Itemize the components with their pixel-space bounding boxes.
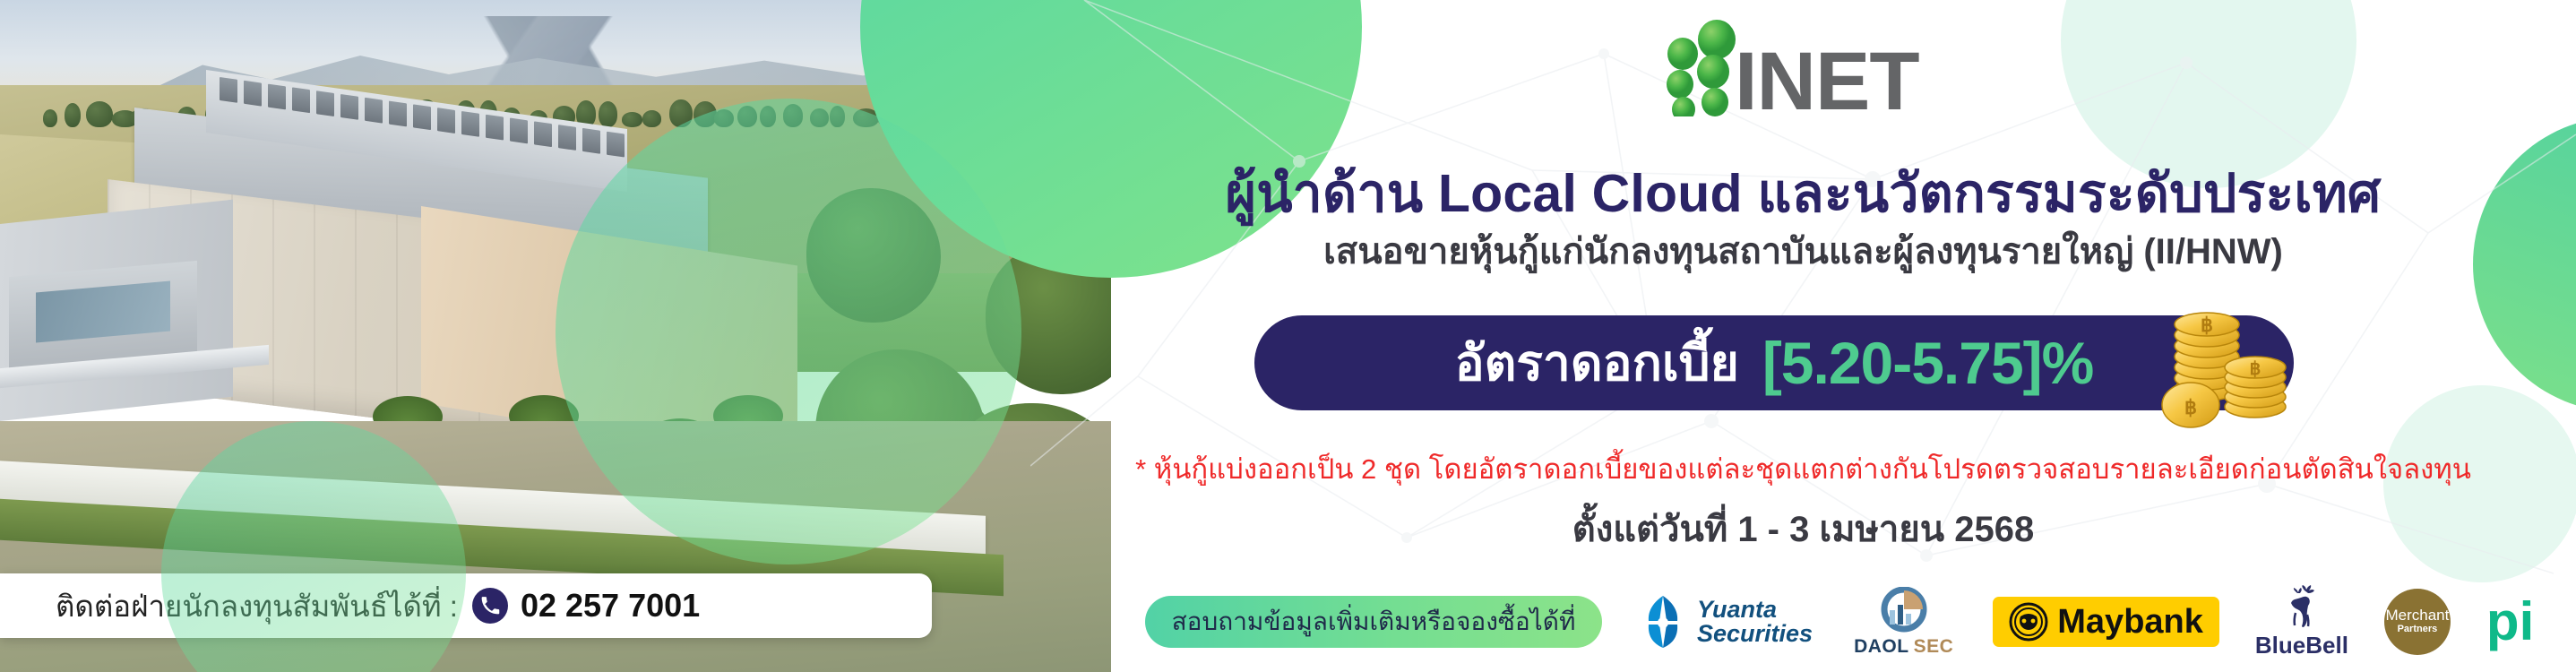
daol-mark-icon [1877, 587, 1931, 633]
partner-strip: สอบถามข้อมูลเพิ่มเติมหรือจองซื้อได้ที่ Y… [1030, 581, 2576, 663]
interest-rate-section: อัตราดอกเบี้ย [5.20-5.75]% [1030, 315, 2576, 423]
partner-logo-daol[interactable]: DAOLSEC [1854, 587, 1953, 658]
svg-text:฿: ฿ [2184, 396, 2197, 418]
content-column: INET ผู้นำด้าน Local Cloud และนวัตกรรมระ… [1030, 0, 2576, 672]
partner-logo-maybank[interactable]: Maybank [1993, 597, 2219, 647]
offer-period: ตั้งแต่วันที่ 1 - 3 เมษายน 2568 [1030, 500, 2576, 557]
yuanta-mark-icon [1638, 594, 1688, 650]
partner-logo-merchant[interactable]: Merchant Partners [2384, 589, 2451, 655]
partner-logo-pi[interactable]: pi [2486, 600, 2534, 643]
svg-text:INET: INET [1735, 36, 1919, 116]
contact-label: ติดต่อฝ่ายนักลงทุนสัมพันธ์ได้ที่ : [56, 582, 458, 630]
interest-rate-label: อัตราดอกเบี้ย [1455, 324, 1739, 402]
merchant-badge-icon: Merchant Partners [2384, 589, 2451, 655]
contact-phone: 02 257 7001 [521, 587, 700, 625]
merchant-line1: Merchant [2385, 607, 2449, 623]
merchant-line2: Partners [2398, 623, 2438, 636]
daol-line2: SEC [1914, 636, 1954, 657]
inet-logo: INET [1649, 16, 1962, 116]
svg-text:฿: ฿ [2250, 359, 2262, 379]
maybank-tiger-icon [2009, 602, 2048, 642]
bluebell-deer-icon [2278, 585, 2326, 630]
svg-text:฿: ฿ [2201, 314, 2213, 336]
yuanta-line2: Securities [1697, 622, 1813, 646]
interest-rate-value: [5.20-5.75]% [1762, 329, 2094, 397]
pi-wordmark: pi [2486, 600, 2534, 643]
phone-icon [472, 588, 508, 624]
inet-promotional-banner: ติดต่อฝ่ายนักลงทุนสัมพันธ์ได้ที่ : 02 25… [0, 0, 2576, 672]
contact-bar: ติดต่อฝ่ายนักลงทุนสัมพันธ์ได้ที่ : 02 25… [0, 573, 932, 638]
maybank-wordmark: Maybank [2057, 603, 2203, 642]
interest-rate-box: อัตราดอกเบี้ย [5.20-5.75]% [1254, 315, 2294, 410]
partner-logo-bluebell[interactable]: BlueBell [2255, 585, 2348, 659]
yuanta-line1: Yuanta [1697, 598, 1813, 622]
datacenter-photo: ติดต่อฝ่ายนักลงทุนสัมพันธ์ได้ที่ : 02 25… [0, 0, 1111, 672]
daol-line1: DAOL [1854, 636, 1909, 657]
partner-logo-yuanta[interactable]: Yuanta Securities [1638, 594, 1813, 650]
cta-button[interactable]: สอบถามข้อมูลเพิ่มเติมหรือจองซื้อได้ที่ [1145, 596, 1602, 648]
page-subtitle: เสนอขายหุ้นกู้แก่นักลงทุนสถาบันและผู้ลงท… [1030, 222, 2576, 280]
gold-coins-icon: ฿ ฿ ฿ [2155, 296, 2298, 430]
bluebell-wordmark: BlueBell [2255, 632, 2348, 659]
disclaimer-text: * หุ้นกู้แบ่งออกเป็น 2 ชุด โดยอัตราดอกเบ… [1030, 446, 2576, 491]
